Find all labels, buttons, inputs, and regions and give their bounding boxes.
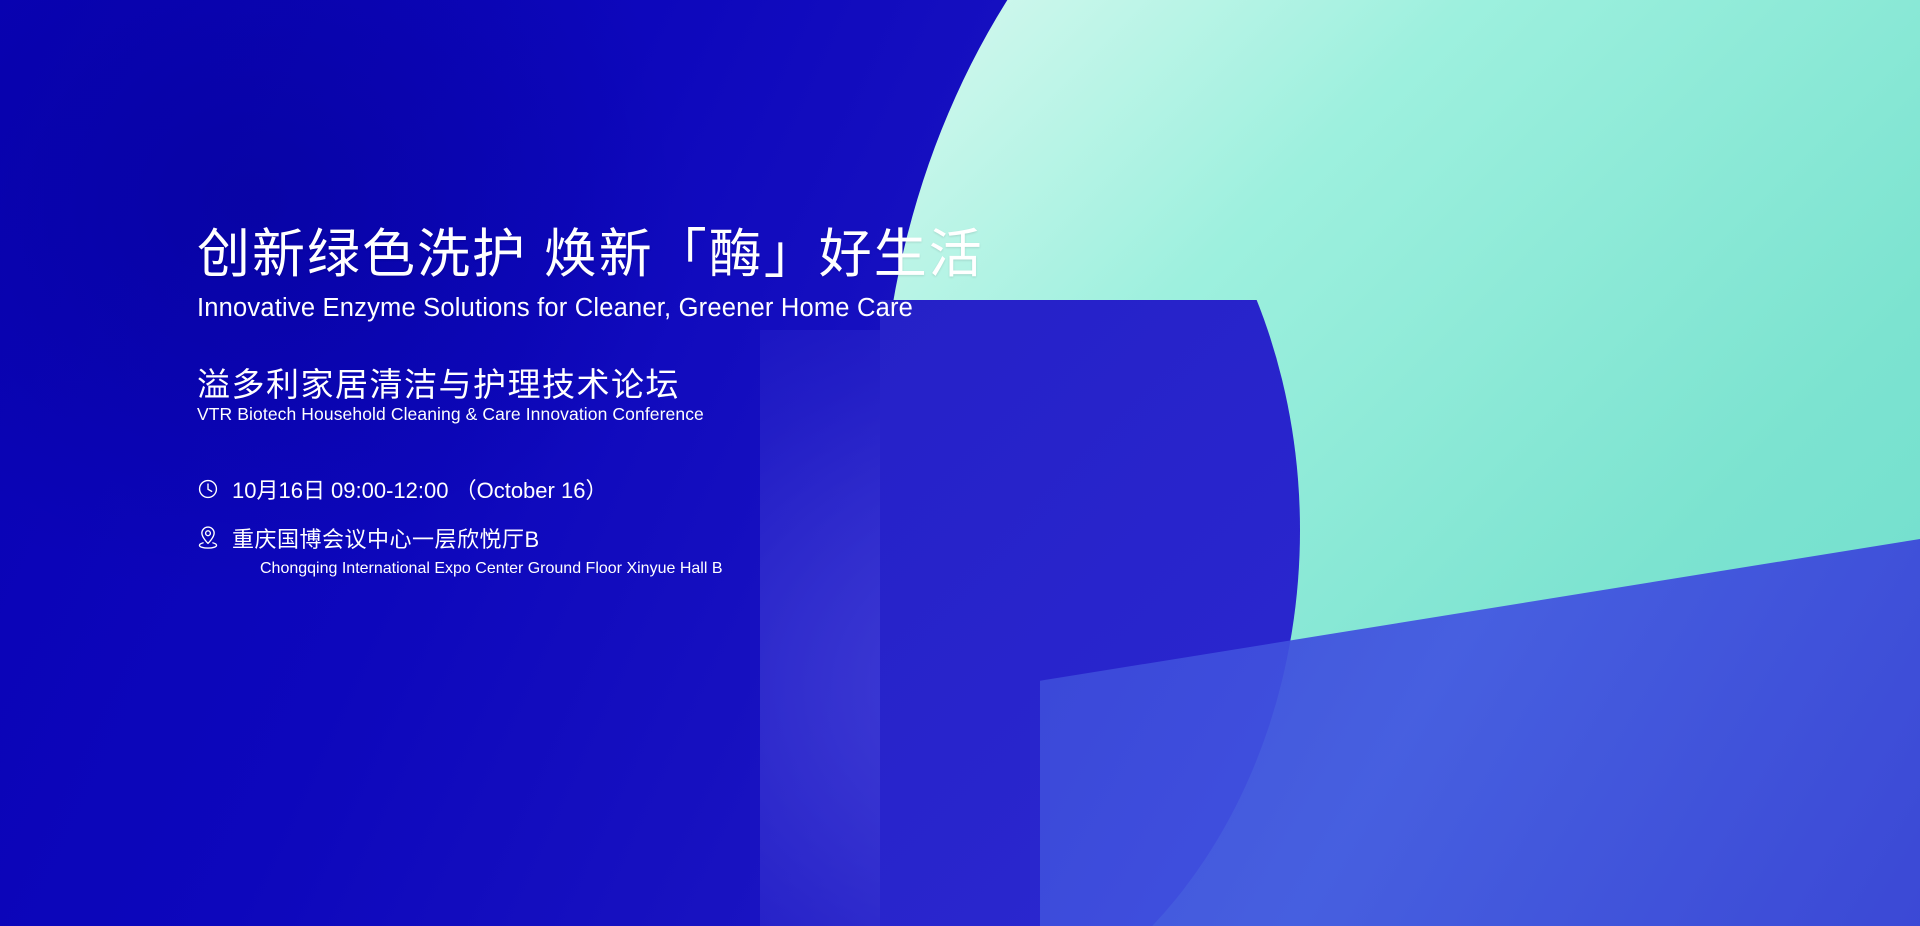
event-time-row: 10月16日 09:00-12:00 （October 16） [197,473,607,505]
event-location-en: Chongqing International Expo Center Grou… [260,560,723,578]
page-subtitle-en: VTR Biotech Household Cleaning & Care In… [197,404,704,425]
page-title-zh: 创新绿色洗护 焕新「酶」好生活 [197,226,984,283]
banner-content: 创新绿色洗护 焕新「酶」好生活 Innovative Enzyme Soluti… [197,0,1097,926]
conference-banner: 创新绿色洗护 焕新「酶」好生活 Innovative Enzyme Soluti… [0,0,1920,926]
event-location-zh: 重庆国博会议中心一层欣悦厅B [232,522,723,554]
page-subtitle-zh: 溢多利家居清洁与护理技术论坛 [197,358,680,406]
clock-icon [197,478,219,500]
map-pin-icon [197,525,219,549]
event-location-row: 重庆国博会议中心一层欣悦厅B Chongqing International E… [197,522,723,578]
event-location-lines: 重庆国博会议中心一层欣悦厅B Chongqing International E… [232,522,723,578]
page-title-en: Innovative Enzyme Solutions for Cleaner,… [197,294,913,323]
event-time-text: 10月16日 09:00-12:00 （October 16） [232,473,607,505]
